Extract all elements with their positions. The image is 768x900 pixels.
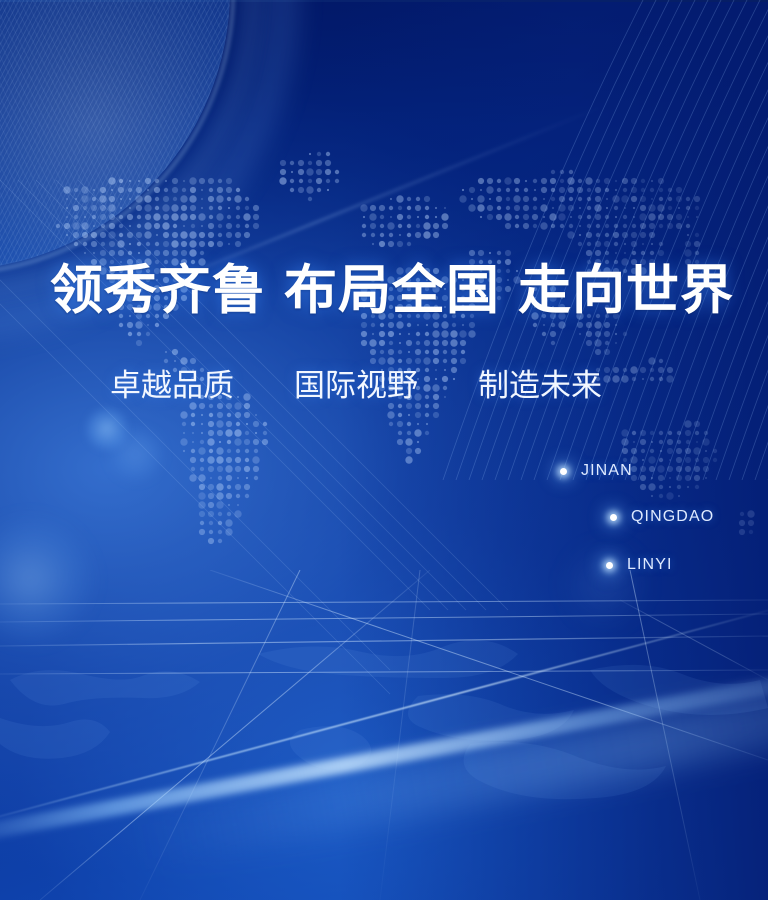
city-label: QINGDAO [631,508,714,526]
city-marker-linyi[interactable]: LINYI [606,556,673,574]
city-marker-jinan[interactable]: JINAN [560,462,633,480]
headline-part-3: 走向世界 [518,262,734,320]
banner-subheadline: 卓越品质国际视野制造未来 [110,370,602,401]
city-label: JINAN [581,462,633,480]
banner-headline: 领秀齐鲁布局全国走向世界 [50,265,734,318]
location-pin-icon [560,468,567,475]
city-label: LINYI [627,556,673,574]
subheadline-part-3: 制造未来 [478,368,602,403]
headline-part-2: 布局全国 [284,262,500,320]
subheadline-part-1: 卓越品质 [110,368,234,403]
location-pin-icon [610,514,617,521]
subheadline-part-2: 国际视野 [294,368,418,403]
location-pin-icon [606,562,613,569]
perspective-grid-plane [0,570,768,900]
city-marker-qingdao[interactable]: QINGDAO [610,508,714,526]
headline-part-1: 领秀齐鲁 [50,262,266,320]
hero-banner: 领秀齐鲁布局全国走向世界 卓越品质国际视野制造未来 JINANQINGDAOLI… [0,0,768,900]
